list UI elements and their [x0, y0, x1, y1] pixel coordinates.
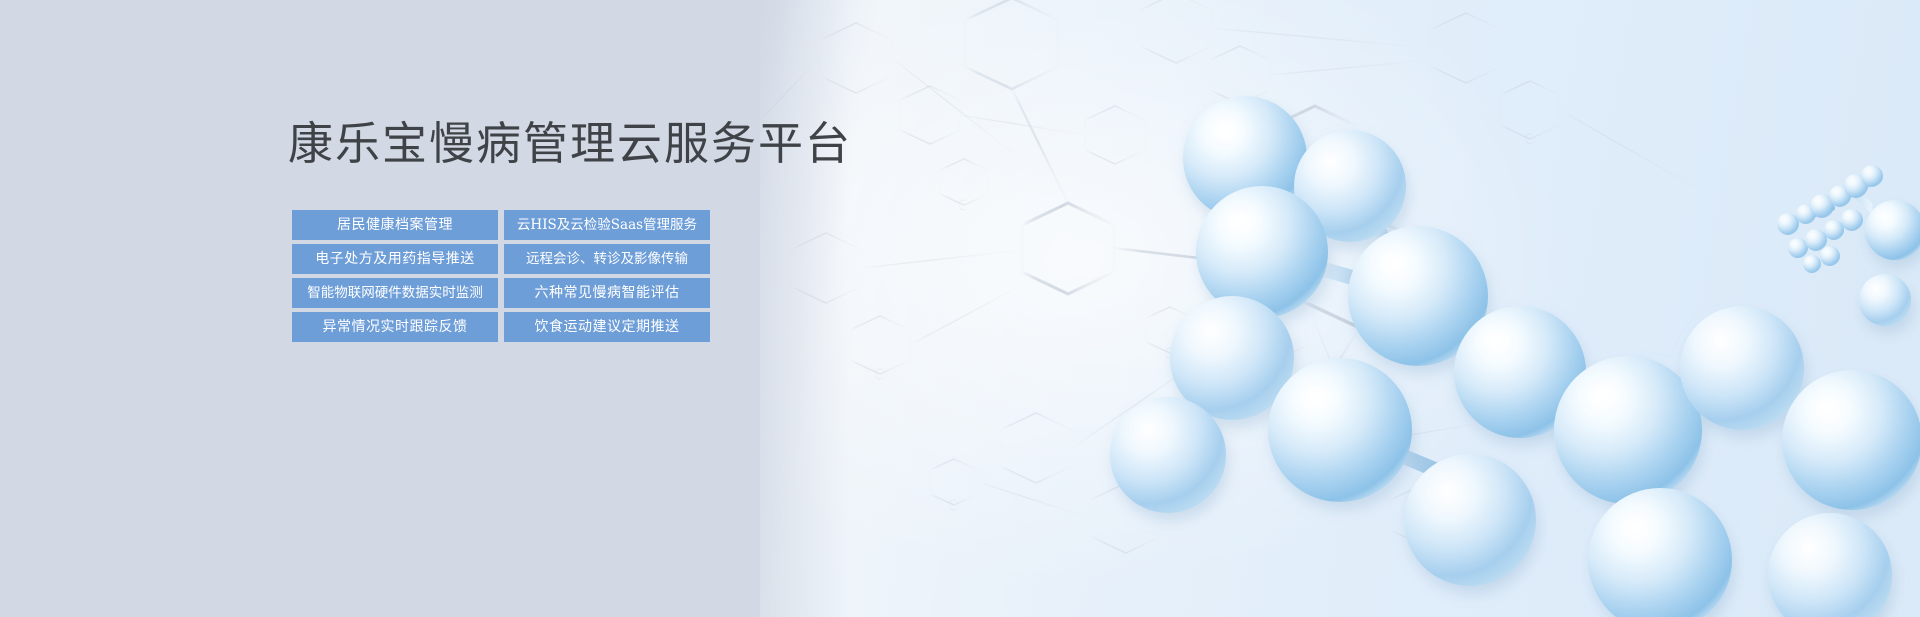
feature-button-six-chronic-disease-assessment[interactable]: 六种常见慢病智能评估	[504, 278, 710, 308]
feature-button-abnormal-tracking-feedback[interactable]: 异常情况实时跟踪反馈	[292, 312, 498, 342]
hero-banner: 康乐宝慢病管理云服务平台 居民健康档案管理 云HIS及云检验Saas管理服务 电…	[0, 0, 1920, 617]
right-gradient-panel	[760, 0, 1920, 617]
banner-content: 康乐宝慢病管理云服务平台 居民健康档案管理 云HIS及云检验Saas管理服务 电…	[288, 0, 728, 617]
feature-button-grid: 居民健康档案管理 云HIS及云检验Saas管理服务 电子处方及用药指导推送 远程…	[292, 210, 710, 342]
page-title: 康乐宝慢病管理云服务平台	[288, 118, 852, 170]
feature-button-resident-health-record[interactable]: 居民健康档案管理	[292, 210, 498, 240]
feature-button-diet-exercise-advice[interactable]: 饮食运动建议定期推送	[504, 312, 710, 342]
feature-button-iot-hardware-monitoring[interactable]: 智能物联网硬件数据实时监测	[292, 278, 498, 308]
feature-button-cloud-his-lab-saas[interactable]: 云HIS及云检验Saas管理服务	[504, 210, 710, 240]
feature-button-e-prescription-medication[interactable]: 电子处方及用药指导推送	[292, 244, 498, 274]
feature-button-remote-consultation-imaging[interactable]: 远程会诊、转诊及影像传输	[504, 244, 710, 274]
